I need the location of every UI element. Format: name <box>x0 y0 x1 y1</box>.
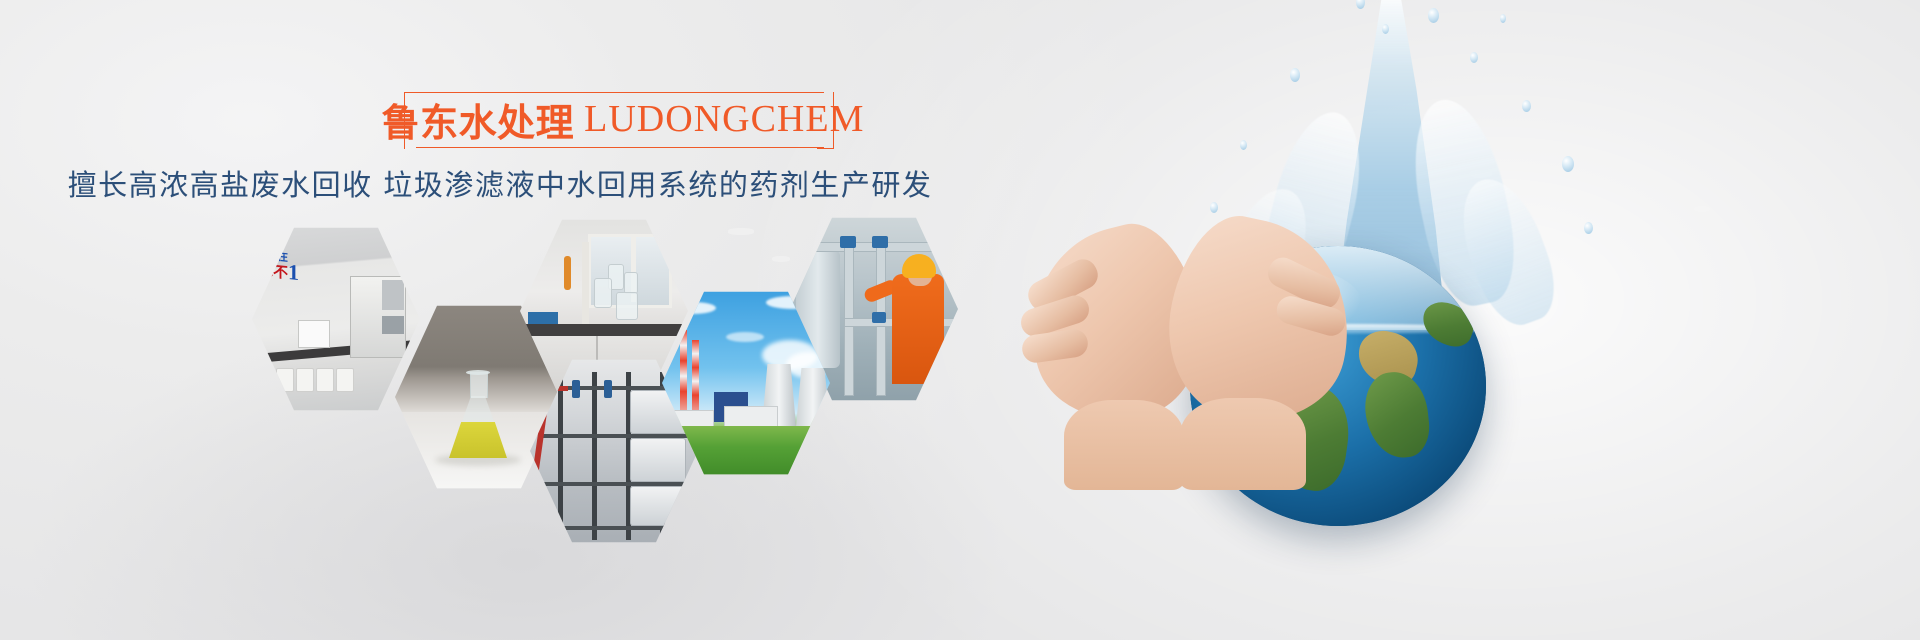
water-droplet <box>1500 14 1506 23</box>
orange-stand <box>564 256 571 290</box>
yellow-liquid <box>449 422 507 458</box>
valve <box>872 236 888 248</box>
water-droplet <box>1356 0 1365 9</box>
water-droplet <box>1470 52 1478 63</box>
cupped-hands <box>1020 150 1350 480</box>
blue-valve <box>572 380 580 398</box>
water-droplet <box>1382 24 1389 34</box>
plant-building <box>724 406 778 428</box>
water-droplet <box>1428 8 1439 23</box>
glass-flask <box>624 272 638 294</box>
frame-bottom-line <box>416 147 824 148</box>
wall-slogan: 就在 水不 1 <box>258 246 336 294</box>
wall-slogan-number: 1 <box>288 259 299 286</box>
right-wrist <box>1180 398 1306 490</box>
glass-flask <box>594 278 612 308</box>
water-droplet <box>1290 68 1300 82</box>
valve <box>840 236 856 248</box>
flask-neck <box>470 372 488 398</box>
operator-coverall <box>892 274 944 384</box>
brand-title-en: LUDONGCHEM <box>584 97 864 141</box>
brand-title-frame: 鲁东水处理 LUDONGCHEM <box>404 92 834 148</box>
water-droplet <box>1522 100 1531 112</box>
lab-bench <box>520 324 688 336</box>
banner-subtitle: 擅长高浓高盐废水回收 垃圾渗滤液中水回用系统的药剂生产研发 <box>0 162 1000 204</box>
chemical-drum <box>316 368 334 392</box>
frame-upright <box>592 372 597 540</box>
water-globe-artwork <box>1020 0 1920 640</box>
erlenmeyer-flask <box>449 372 507 458</box>
hero-banner: 就在 水不 1 <box>0 0 1920 640</box>
flask-lip <box>466 370 490 375</box>
blue-crate <box>528 312 558 324</box>
chemical-drum <box>276 368 294 392</box>
lab-instrument <box>298 320 330 348</box>
cabinet-panel-lower <box>382 316 404 334</box>
banner-text-block: 鲁东水处理 LUDONGCHEM 擅长高浓高盐废水回收 垃圾渗滤液中水回用系统的… <box>0 92 1060 204</box>
left-wrist <box>1064 400 1184 490</box>
valve <box>872 312 886 323</box>
wall-slogan-line2: 水不 <box>258 259 288 283</box>
chemical-drum <box>296 368 314 392</box>
brand-title-cn: 鲁东水处理 <box>382 92 575 147</box>
water-droplet <box>1584 222 1593 234</box>
safety-helmet <box>902 254 936 278</box>
chemical-drum <box>336 368 354 392</box>
glass-beaker <box>616 292 638 320</box>
frame-upright <box>558 372 563 540</box>
cloud <box>726 332 764 342</box>
cooling-tower <box>796 368 830 426</box>
water-droplet <box>1240 140 1247 150</box>
membrane-vessel <box>630 438 686 482</box>
cabinet-panel-upper <box>382 280 404 310</box>
frame-crossbar <box>538 526 690 530</box>
membrane-vessel <box>630 486 686 526</box>
water-droplet <box>1562 156 1574 172</box>
page-title: 鲁东水处理 LUDONGCHEM <box>418 91 828 147</box>
tile-laboratory-room[interactable]: 就在 水不 1 <box>252 224 420 414</box>
support-column <box>582 242 589 326</box>
blue-valve <box>604 380 612 398</box>
